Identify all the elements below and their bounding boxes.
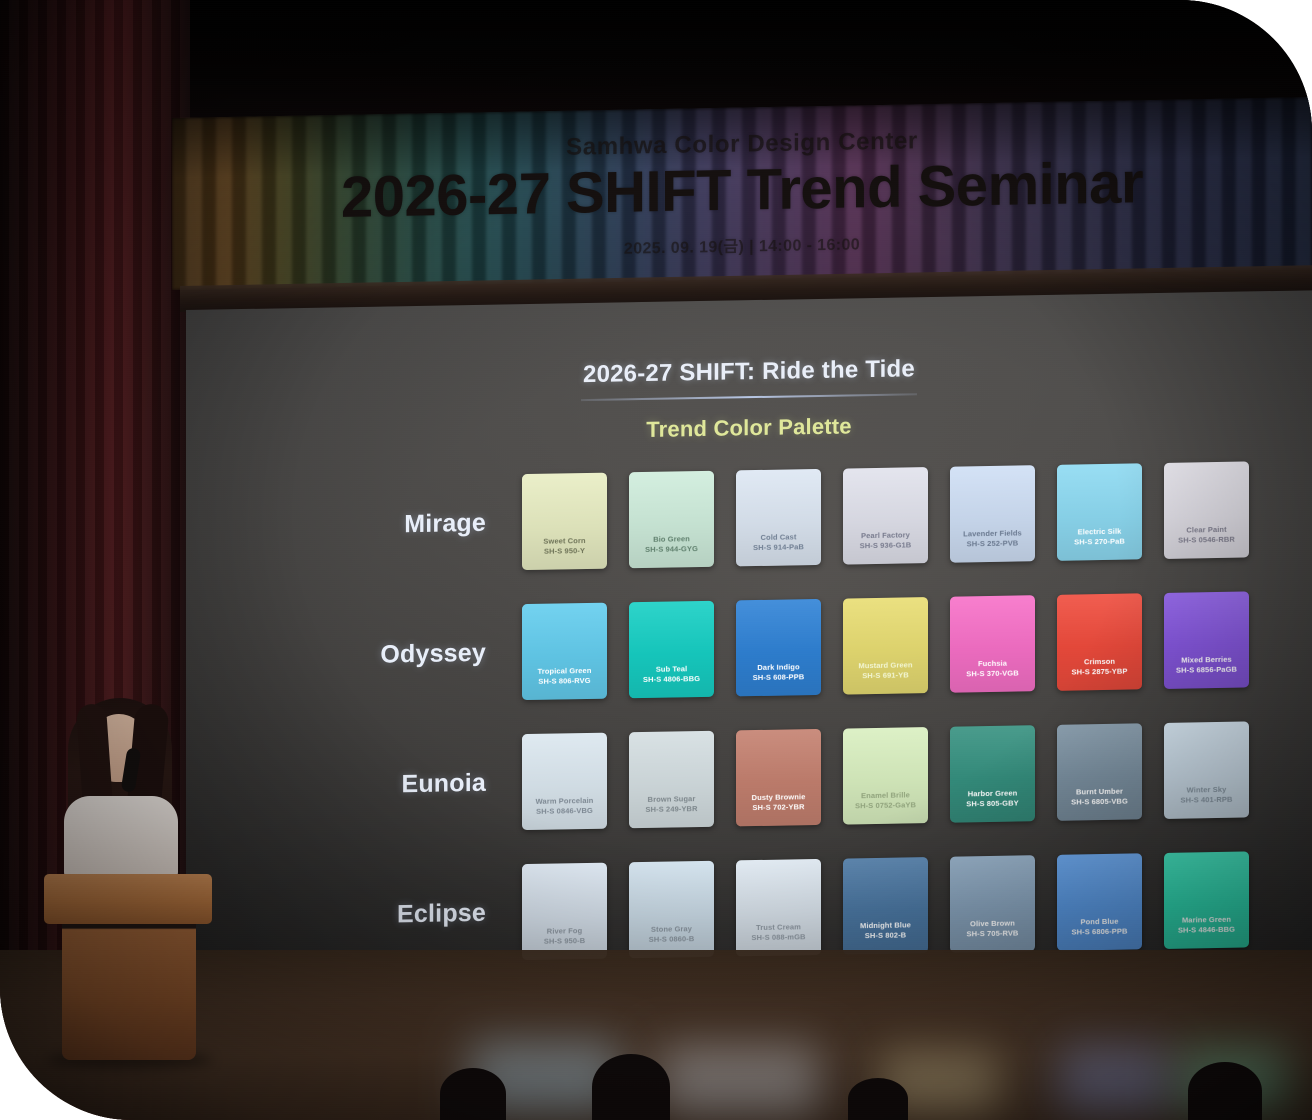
swatch-code: SH-S 401-RPB [1164,794,1249,805]
swatch-caption: Sweet CornSH-S 950-Y [522,536,607,556]
swatch-code: SH-S 936-G1B [843,540,928,551]
audience-head [848,1078,908,1120]
palette-row-label: Odyssey [306,638,522,671]
swatch-caption: Burnt UmberSH-S 6805-VBG [1057,787,1142,807]
swatch-code: SH-S 608-PPB [736,672,821,683]
swatch-caption: Clear PaintSH-S 0546-RBR [1164,525,1249,545]
banner-date: 2025. 09. 19(금) | 14:00 - 16:00 [624,231,860,259]
palette-row-label: Eunoia [306,768,522,801]
swatch-caption: Dusty BrownieSH-S 702-YBR [736,792,821,812]
swatch-caption: CrimsonSH-S 2875-YBP [1057,657,1142,677]
swatch-code: SH-S 252-PVB [950,538,1035,549]
swatch-code: SH-S 950-Y [522,545,607,556]
swatch-code: SH-S 370-VGB [950,668,1035,679]
swatch-caption: Dark IndigoSH-S 608-PPB [736,662,821,682]
color-swatch: Mustard GreenSH-S 691-YB [843,597,928,694]
banner-text-block: Samhwa Color Design Center 2026-27 SHIFT… [172,97,1312,290]
color-swatch: Marine GreenSH-S 4846-BBG [1164,851,1249,948]
stage-banner: Samhwa Color Design Center 2026-27 SHIFT… [172,97,1312,290]
color-swatch: Harbor GreenSH-S 805-GBY [950,725,1035,822]
swatch-caption: Bio GreenSH-S 944-GYG [629,534,714,554]
banner-title: 2026-27 SHIFT Trend Seminar [341,153,1143,229]
swatch-code: SH-S 2875-YBP [1057,666,1142,677]
swatch-code: SH-S 705-RVB [950,928,1035,939]
swatch-caption: Trust CreamSH-S 088-mGB [736,922,821,942]
color-palette-grid: MirageSweet CornSH-S 950-YBio GreenSH-S … [306,449,1266,986]
swatch-caption: Enamel BrilleSH-S 0752-GaYB [843,790,928,810]
color-swatch: Cold CastSH-S 914-PaB [736,469,821,566]
color-swatch: Brown SugarSH-S 249-YBR [629,731,714,828]
speaker [62,696,180,872]
swatch-caption: Sub TealSH-S 4806-BBG [629,664,714,684]
palette-swatch-group: Tropical GreenSH-S 806-RVGSub TealSH-S 4… [522,591,1249,700]
color-swatch: Dusty BrownieSH-S 702-YBR [736,729,821,826]
color-swatch: Burnt UmberSH-S 6805-VBG [1057,723,1142,820]
color-swatch: Winter SkySH-S 401-RPB [1164,721,1249,818]
swatch-caption: Harbor GreenSH-S 805-GBY [950,788,1035,808]
podium-top [44,874,212,924]
swatch-caption: FuchsiaSH-S 370-VGB [950,658,1035,678]
color-swatch: Lavender FieldsSH-S 252-PVB [950,465,1035,562]
swatch-caption: Cold CastSH-S 914-PaB [736,532,821,552]
swatch-caption: Mustard GreenSH-S 691-YB [843,660,928,680]
color-swatch: Sub TealSH-S 4806-BBG [629,601,714,698]
swatch-code: SH-S 4806-BBG [629,673,714,684]
palette-row: OdysseyTropical GreenSH-S 806-RVGSub Tea… [306,579,1266,716]
swatch-code: SH-S 802-B [843,930,928,941]
swatch-caption: Olive BrownSH-S 705-RVB [950,918,1035,938]
conference-photo: Samhwa Color Design Center 2026-27 SHIFT… [0,0,1312,1120]
swatch-caption: Stone GraySH-S 0860-B [629,924,714,944]
swatch-code: SH-S 6806-PPB [1057,926,1142,937]
palette-row: MirageSweet CornSH-S 950-YBio GreenSH-S … [306,449,1266,586]
swatch-code: SH-S 270-PaB [1057,536,1142,547]
swatch-caption: Midnight BlueSH-S 802-B [843,920,928,940]
swatch-code: SH-S 0846-VBG [522,805,607,816]
swatch-caption: Winter SkySH-S 401-RPB [1164,785,1249,805]
color-swatch: Pearl FactorySH-S 936-G1B [843,467,928,564]
swatch-caption: Brown SugarSH-S 249-YBR [629,794,714,814]
color-swatch: Sweet CornSH-S 950-Y [522,473,607,570]
swatch-caption: Tropical GreenSH-S 806-RVG [522,666,607,686]
swatch-caption: River FogSH-S 950-B [522,926,607,946]
color-swatch: Clear PaintSH-S 0546-RBR [1164,461,1249,558]
projection-screen: 2026-27 SHIFT: Ride the Tide Trend Color… [186,290,1312,1010]
swatch-caption: Mixed BerriesSH-S 6856-PaGB [1164,655,1249,675]
color-swatch: Trust CreamSH-S 088-mGB [736,859,821,956]
color-swatch: River FogSH-S 950-B [522,863,607,960]
swatch-code: SH-S 805-GBY [950,798,1035,809]
swatch-caption: Electric SilkSH-S 270-PaB [1057,527,1142,547]
swatch-code: SH-S 6805-VBG [1057,796,1142,807]
swatch-code: SH-S 088-mGB [736,932,821,943]
audience-head [592,1054,670,1120]
swatch-caption: Pond BlueSH-S 6806-PPB [1057,917,1142,937]
swatch-code: SH-S 249-YBR [629,803,714,814]
color-swatch: Tropical GreenSH-S 806-RVG [522,603,607,700]
color-swatch: Enamel BrilleSH-S 0752-GaYB [843,727,928,824]
color-swatch: Dark IndigoSH-S 608-PPB [736,599,821,696]
swatch-code: SH-S 806-RVG [522,675,607,686]
palette-swatch-group: River FogSH-S 950-BStone GraySH-S 0860-B… [522,851,1249,960]
swatch-code: SH-S 950-B [522,935,607,946]
palette-swatch-group: Warm PorcelainSH-S 0846-VBGBrown SugarSH… [522,721,1249,830]
swatch-caption: Pearl FactorySH-S 936-G1B [843,530,928,550]
swatch-code: SH-S 702-YBR [736,802,821,813]
audience-head [1188,1062,1262,1120]
swatch-code: SH-S 6856-PaGB [1164,664,1249,675]
color-swatch: Electric SilkSH-S 270-PaB [1057,463,1142,560]
swatch-code: SH-S 944-GYG [629,543,714,554]
palette-row: EunoiaWarm PorcelainSH-S 0846-VBGBrown S… [306,709,1266,846]
swatch-code: SH-S 914-PaB [736,542,821,553]
color-swatch: Bio GreenSH-S 944-GYG [629,471,714,568]
color-swatch: FuchsiaSH-S 370-VGB [950,595,1035,692]
speaker-torso [64,796,178,880]
swatch-code: SH-S 0546-RBR [1164,534,1249,545]
palette-row-label: Mirage [306,508,522,541]
color-swatch: Stone GraySH-S 0860-B [629,861,714,958]
swatch-caption: Warm PorcelainSH-S 0846-VBG [522,796,607,816]
color-swatch: Midnight BlueSH-S 802-B [843,857,928,954]
color-swatch: Olive BrownSH-S 705-RVB [950,855,1035,952]
podium-body [62,910,196,1060]
color-swatch: Pond BlueSH-S 6806-PPB [1057,853,1142,950]
swatch-caption: Marine GreenSH-S 4846-BBG [1164,915,1249,935]
swatch-code: SH-S 0860-B [629,933,714,944]
swatch-code: SH-S 4846-BBG [1164,924,1249,935]
swatch-caption: Lavender FieldsSH-S 252-PVB [950,528,1035,548]
audience-head [440,1068,506,1120]
color-swatch: Mixed BerriesSH-S 6856-PaGB [1164,591,1249,688]
color-swatch: Warm PorcelainSH-S 0846-VBG [522,733,607,830]
palette-row-label: Eclipse [306,898,522,931]
color-swatch: CrimsonSH-S 2875-YBP [1057,593,1142,690]
swatch-code: SH-S 0752-GaYB [843,800,928,811]
swatch-code: SH-S 691-YB [843,670,928,681]
palette-swatch-group: Sweet CornSH-S 950-YBio GreenSH-S 944-GY… [522,461,1249,570]
